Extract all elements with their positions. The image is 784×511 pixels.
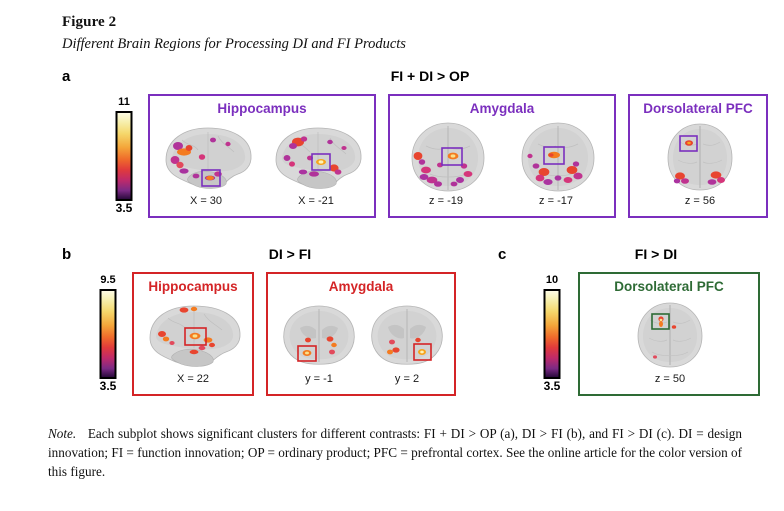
roi-box-hippocampus-b: Hippocampus <box>132 272 254 396</box>
slice-label-y2: y = 2 <box>358 373 456 385</box>
slice-label-x30: X = 30 <box>154 195 258 207</box>
brain-slice-axial-zminus17 <box>506 120 610 194</box>
colorbar-a: 11 3.5 <box>104 96 144 218</box>
roi-box-dlpfc-a: Dorsolateral PFC <box>628 94 768 218</box>
colorbar-b-gradient <box>100 289 117 379</box>
brain-slice-axial-zminus19 <box>396 120 500 194</box>
colorbar-c-max: 10 <box>546 274 558 286</box>
roi-title-hippocampus-a: Hippocampus <box>150 101 374 116</box>
brain-slice-axial-z56 <box>652 120 748 194</box>
slice-label-xminus21: X = -21 <box>264 195 368 207</box>
slice-label-zminus17: z = -17 <box>500 195 612 207</box>
roi-box-dlpfc-c: Dorsolateral PFC <box>578 272 760 396</box>
contrast-label-a: FI + DI > OP <box>320 68 540 84</box>
roi-title-amygdala-b: Amygdala <box>268 279 454 294</box>
contrast-label-c: FI > DI <box>556 246 756 262</box>
roi-title-amygdala-a: Amygdala <box>390 101 614 116</box>
slice-label-zminus19: z = -19 <box>390 195 502 207</box>
colorbar-a-min: 3.5 <box>116 201 133 215</box>
roi-box-amygdala-b: Amygdala y = -1 <box>266 272 456 396</box>
colorbar-b-max: 9.5 <box>100 274 115 286</box>
brain-slice-sagittal-x30 <box>158 122 258 192</box>
brain-slice-coronal-y2 <box>364 300 450 370</box>
panel-letter-a: a <box>62 68 70 85</box>
roi-title-dlpfc-c: Dorsolateral PFC <box>580 279 758 294</box>
roi-title-hippocampus-b: Hippocampus <box>134 279 252 294</box>
colorbar-c-min: 3.5 <box>544 379 561 393</box>
colorbar-a-max: 11 <box>118 96 130 108</box>
brain-slice-coronal-yminus1 <box>276 300 362 370</box>
slice-label-z50: z = 50 <box>614 373 726 385</box>
slice-label-x22: X = 22 <box>134 373 252 385</box>
roi-box-amygdala-a: Amygdala <box>388 94 616 218</box>
brain-slice-axial-z50 <box>622 300 718 370</box>
contrast-label-b: DI > FI <box>180 246 400 262</box>
roi-box-hippocampus-a: Hippocampus <box>148 94 376 218</box>
colorbar-a-gradient <box>116 111 133 201</box>
brain-slice-sagittal-xminus21 <box>268 122 368 192</box>
colorbar-c-gradient <box>544 289 561 379</box>
figure-number: Figure 2 <box>62 14 116 31</box>
panel-letter-b: b <box>62 246 71 263</box>
figure-container: Figure 2 Different Brain Regions for Pro… <box>0 0 784 511</box>
brain-slice-sagittal-x22 <box>140 300 248 370</box>
slice-label-yminus1: y = -1 <box>270 373 368 385</box>
colorbar-c: 10 3.5 <box>532 274 572 396</box>
figure-note: Note. Each subplot shows significant clu… <box>48 424 742 481</box>
note-label: Note. <box>48 426 76 441</box>
panel-letter-c: c <box>498 246 506 263</box>
colorbar-b-min: 3.5 <box>100 379 117 393</box>
note-text: Each subplot shows significant clusters … <box>48 426 742 479</box>
roi-title-dlpfc-a: Dorsolateral PFC <box>630 101 766 116</box>
figure-title: Different Brain Regions for Processing D… <box>62 36 406 53</box>
colorbar-b: 9.5 3.5 <box>88 274 128 396</box>
slice-label-z56: z = 56 <box>644 195 756 207</box>
